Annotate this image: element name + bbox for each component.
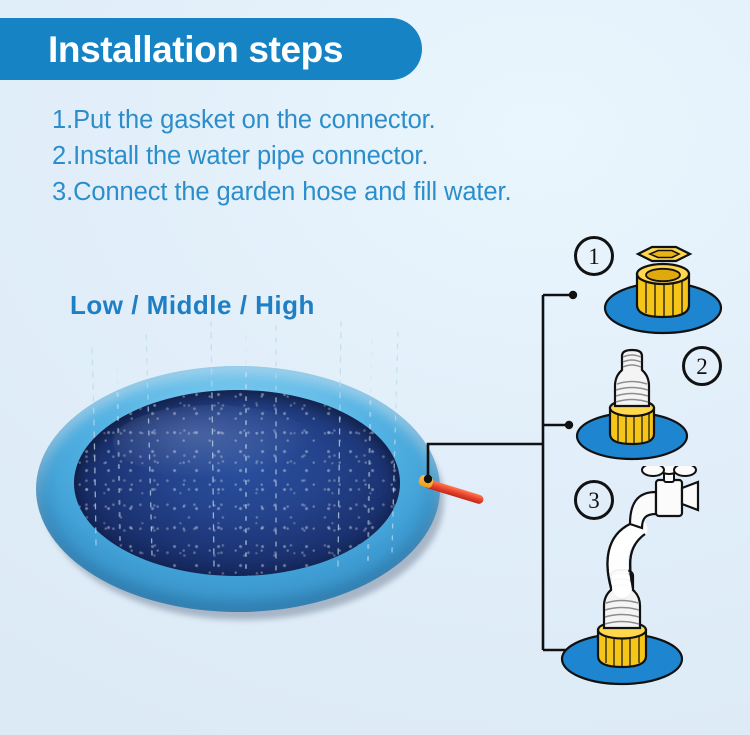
pipe-connector-2 bbox=[615, 350, 649, 406]
step-item-3: 3.Connect the garden hose and fill water… bbox=[52, 174, 692, 210]
gasket-1 bbox=[638, 247, 690, 261]
splash-pad-pool bbox=[36, 366, 448, 624]
faucet-icon bbox=[630, 466, 698, 528]
installation-steps-list: 1.Put the gasket on the connector. 2.Ins… bbox=[52, 102, 692, 210]
callout-step-1: 1 bbox=[560, 232, 750, 342]
callout-number-3: 3 bbox=[574, 480, 614, 520]
callout-number-1: 1 bbox=[574, 236, 614, 276]
title-banner: Installation steps bbox=[0, 18, 422, 80]
step-item-2: 2.Install the water pipe connector. bbox=[52, 138, 692, 174]
pool-sheen bbox=[113, 405, 315, 479]
callout-number-2: 2 bbox=[682, 346, 722, 386]
callout-2-illustration bbox=[560, 340, 750, 466]
step-item-1: 1.Put the gasket on the connector. bbox=[52, 102, 692, 138]
infographic-page: Installation steps 1.Put the gasket on t… bbox=[0, 0, 750, 735]
callout-step-3: 3 bbox=[552, 466, 750, 691]
pool-inflatable-rim bbox=[36, 366, 440, 612]
page-title: Installation steps bbox=[48, 31, 343, 68]
spray-level-label: Low / Middle / High bbox=[70, 290, 315, 321]
pool-inner-surface bbox=[74, 390, 400, 576]
callout-step-2: 2 bbox=[560, 340, 750, 466]
